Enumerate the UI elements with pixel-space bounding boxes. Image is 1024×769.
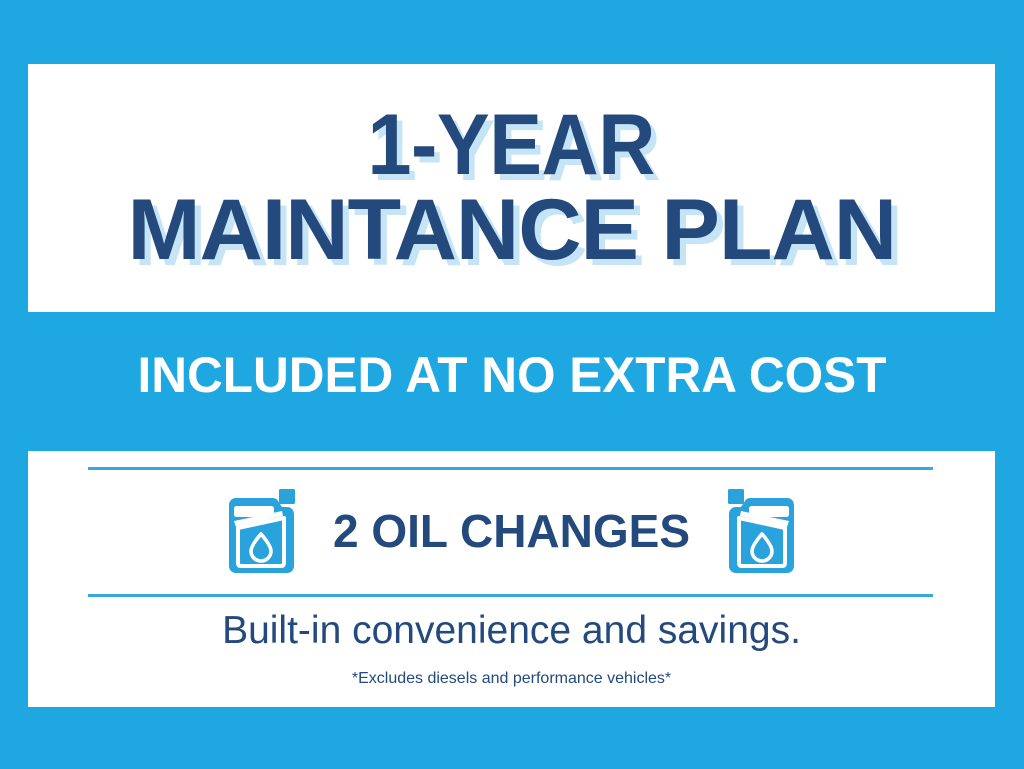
headline-line-2: MAINTANCE PLAN — [127, 191, 896, 270]
details-card: 2 OIL CHANGES Built-in convenience and s… — [28, 451, 995, 707]
divider-top — [88, 467, 933, 470]
divider-bottom — [88, 594, 933, 597]
headline-card: 1-YEAR MAINTANCE PLAN — [28, 64, 995, 312]
tagline: Built-in convenience and savings. — [28, 609, 995, 654]
feature-row: 2 OIL CHANGES — [28, 479, 995, 583]
promo-poster: 1-YEAR MAINTANCE PLAN INCLUDED AT NO EXT… — [0, 0, 1024, 769]
oil-can-icon-left — [225, 487, 297, 575]
disclaimer: *Excludes diesels and performance vehicl… — [28, 669, 995, 688]
feature-label: 2 OIL CHANGES — [333, 508, 690, 554]
oil-can-icon-right — [726, 487, 798, 575]
subheading: INCLUDED AT NO EXTRA COST — [5, 350, 1019, 400]
headline-line-1: 1-YEAR — [368, 106, 655, 185]
